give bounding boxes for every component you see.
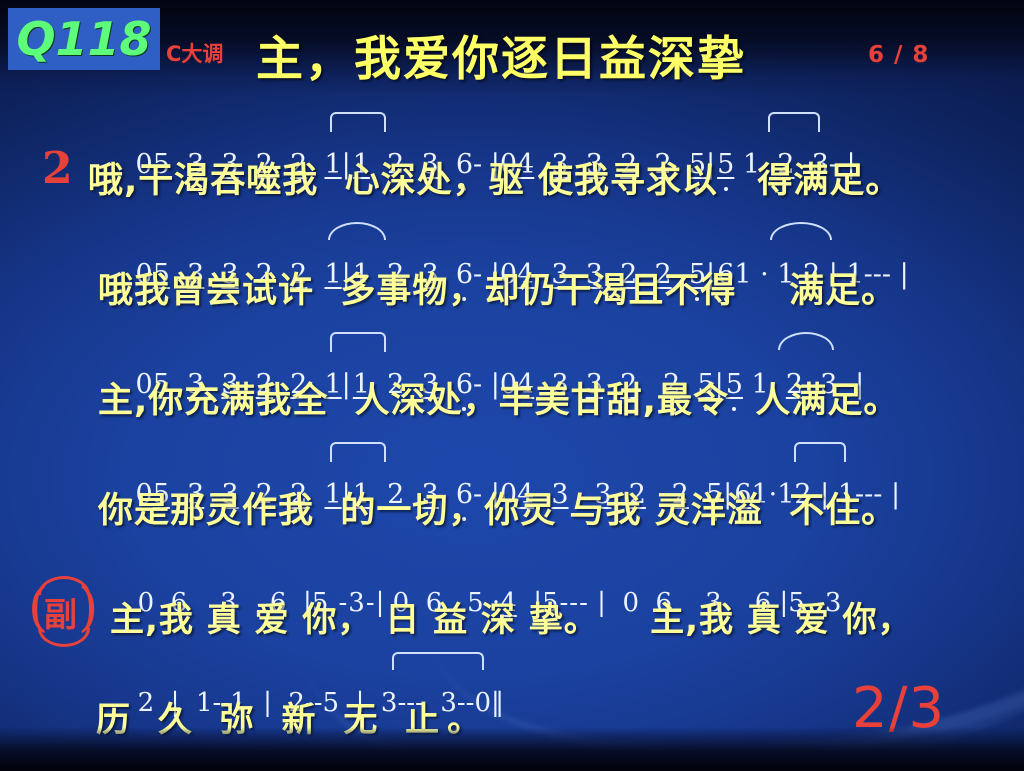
music-line-3: 05 3 3 2 2 1|1 2 3 6- |04 3 3 2 2 5|5 1 … [0, 328, 1024, 428]
tie-bracket [330, 112, 386, 132]
music-line-2: 05 3 3 2 2 1|1 2 3 6- |04 3 3 2 2 5|61 ·… [0, 218, 1024, 318]
tie-bracket [768, 112, 820, 132]
music-line-1: 2 05 3 3 2 2 1|1 2 3 6- |04 3 3 2 2 5|5 … [0, 108, 1024, 208]
slur-arc [770, 222, 832, 240]
lyrics-row-chorus-2: 历 久 弥 新 无 止。 [96, 692, 489, 741]
page-title: 主，我爱你逐日益深挚 [256, 20, 746, 89]
music-line-4: 05 3 3 2 2 1|1 2 3 6- |04 3 3 2 2 5|61·1… [0, 438, 1024, 538]
key-signature-label: C大调 [166, 38, 223, 68]
tie-bracket [330, 332, 386, 352]
lyrics-row-1: 哦,干渴吞噬我 心深处，驱 使我寻求以 得满足。 [88, 152, 901, 203]
slur-arc [778, 332, 834, 350]
tie-bracket [794, 442, 846, 462]
song-code-badge: Q118 [8, 8, 160, 70]
lyrics-row-2: 哦我曾尝试许 多事物，却仍干渴且不得 满足。 [98, 262, 897, 313]
lyrics-row-4: 你是那灵作我 的一切，你灵 与我 灵洋溢 不住。 [98, 482, 897, 533]
page-number: 2/3 [852, 676, 945, 741]
hymn-slide: Q118 C大调 主，我爱你逐日益深挚 6 / 8 2 05 3 3 2 2 1… [0, 0, 1024, 771]
tie-bracket [330, 442, 386, 462]
lyrics-row-chorus-1: 主,我 真 爱 你， 日 益 深 挚。 主,我 真 爱 你， [110, 592, 913, 641]
verse-number: 2 [42, 143, 73, 194]
music-line-chorus-1: 0 6 3 6 |5 -3-| 0 6 5 ·4 |5--- | 0 6 3 6… [0, 552, 1024, 652]
time-signature-label: 6 / 8 [868, 42, 929, 68]
slur-arc [328, 222, 386, 240]
tie-bracket-final [392, 652, 484, 670]
slide-header: Q118 C大调 主，我爱你逐日益深挚 6 / 8 [0, 0, 1024, 92]
song-code-text: Q118 [16, 16, 151, 62]
lyrics-row-3: 主,你充满我全 人深处，丰美甘甜,最令 人满足。 [98, 372, 899, 423]
